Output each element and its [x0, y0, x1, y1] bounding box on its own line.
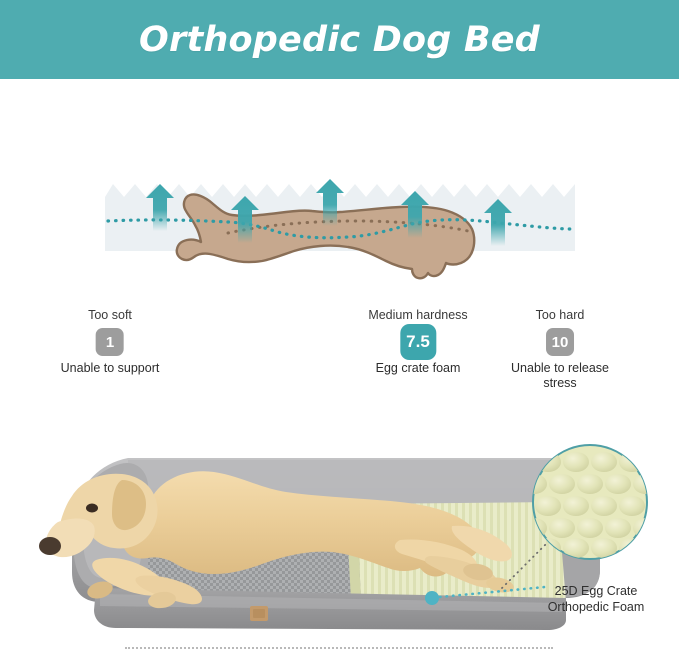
firmness-scale: Too soft 1 Unable to support Medium hard…	[0, 300, 679, 400]
scale-badge-value: 7.5	[400, 324, 436, 360]
scale-bottom-label-line2: stress	[511, 376, 609, 391]
scale-badge-value: 1	[96, 328, 124, 356]
foam-marker-dot	[425, 591, 439, 605]
scale-top-label: Too hard	[511, 308, 609, 323]
scale-track	[125, 647, 553, 651]
scale-bottom-label: Egg crate foam	[368, 361, 467, 376]
callout-label-line1: 25D Egg Crate	[521, 583, 671, 599]
foam-detail-callout	[500, 440, 679, 600]
scale-bottom-label-line1: Unable to release	[511, 361, 609, 376]
callout-leader-line	[502, 544, 546, 588]
scale-point-7-5[interactable]: Medium hardness 7.5 Egg crate foam	[368, 308, 467, 376]
page-title: Orthopedic Dog Bed	[139, 20, 540, 60]
scale-point-10[interactable]: Too hard 10 Unable to release stress	[511, 308, 609, 391]
scale-top-label: Medium hardness	[368, 308, 467, 323]
dog-on-foam-support-diagram	[0, 79, 679, 299]
callout-label: 25D Egg Crate Orthopedic Foam	[521, 583, 671, 615]
header-banner: Orthopedic Dog Bed	[0, 0, 679, 79]
scale-badge-value: 10	[546, 328, 574, 356]
scale-bottom-label: Unable to support	[61, 361, 160, 376]
callout-label-line2: Orthopedic Foam	[521, 599, 671, 615]
scale-top-label: Too soft	[61, 308, 160, 323]
scale-point-1[interactable]: Too soft 1 Unable to support	[61, 308, 160, 376]
